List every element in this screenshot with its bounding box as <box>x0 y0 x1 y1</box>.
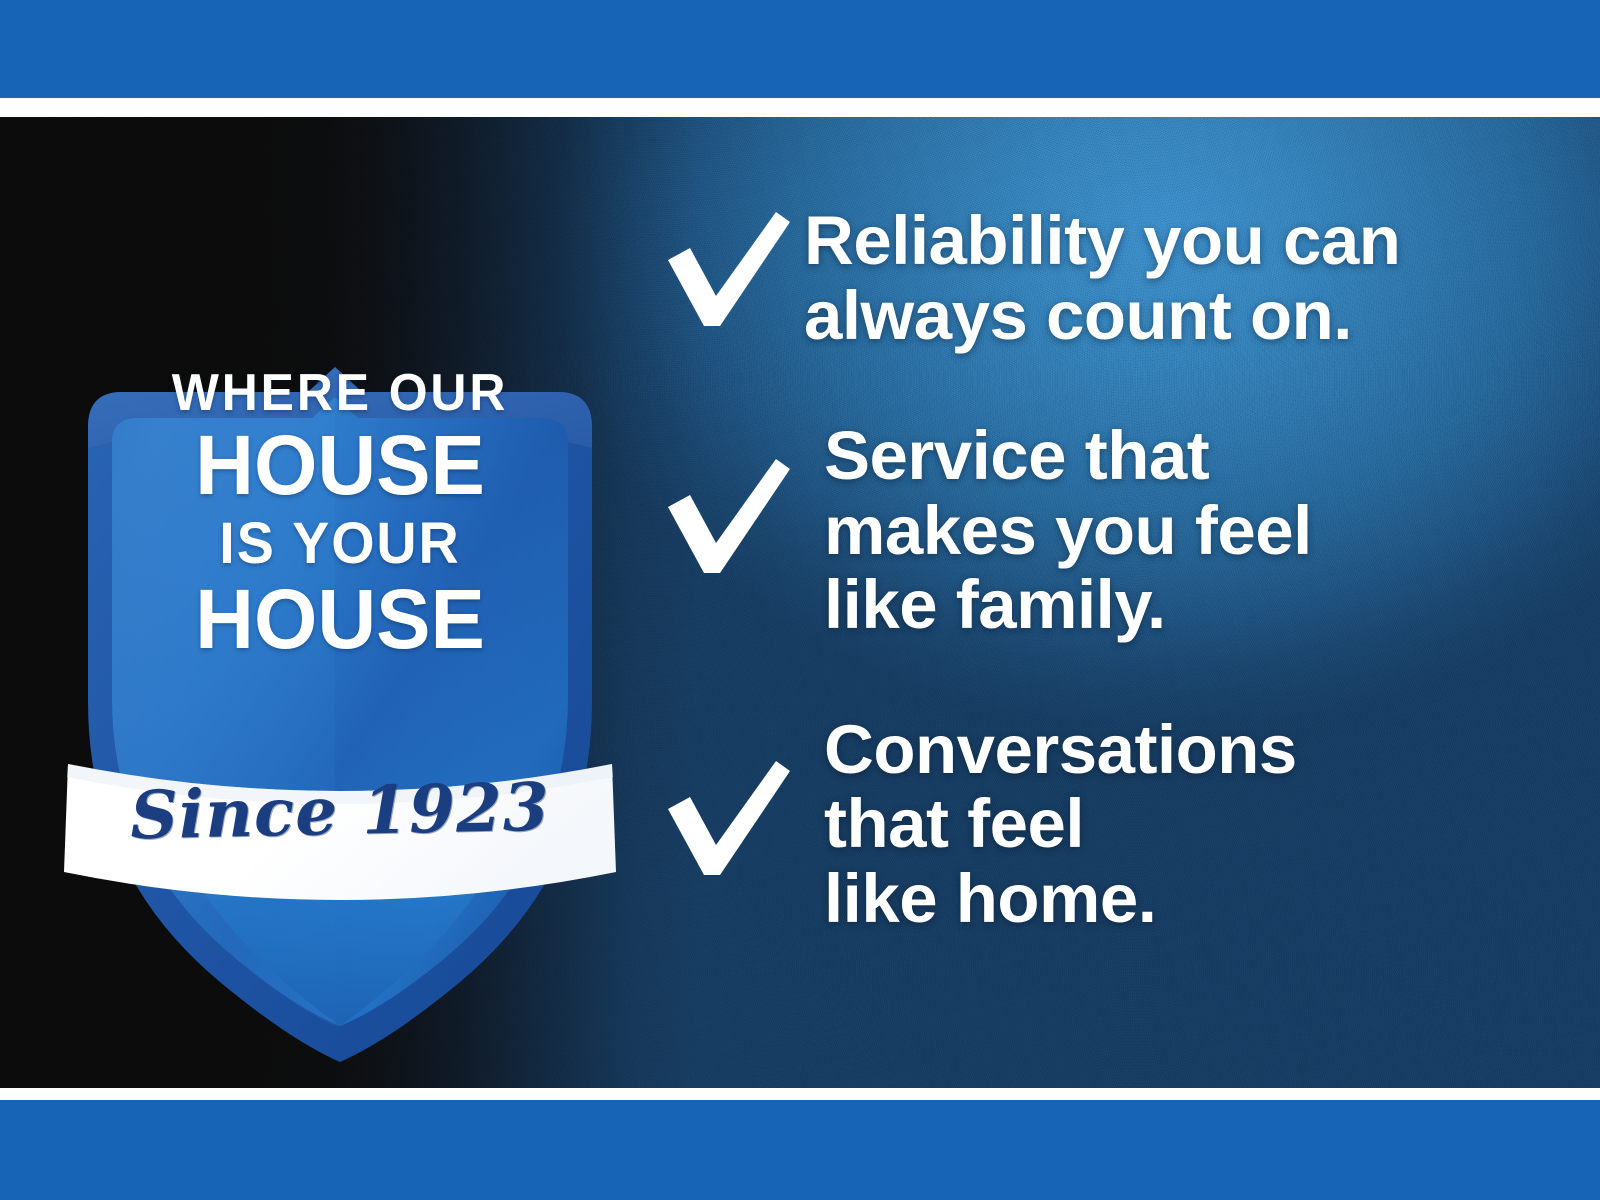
list-item-text: Service that makes you feel like family. <box>824 419 1312 643</box>
shield-badge: Where Our House Is Your House Since 1923 <box>60 272 620 1072</box>
list-item-line: that feel <box>824 787 1297 862</box>
badge-headline: Where Our House Is Your House <box>60 367 620 661</box>
list-item-text: Reliability you can always count on. <box>804 204 1400 353</box>
list-item-text: Conversations that feel like home. <box>824 713 1297 937</box>
benefits-list: Reliability you can always count on. Ser… <box>660 202 1560 1010</box>
badge-line-1: Where Our <box>71 367 609 419</box>
list-item-line: Service that <box>824 419 1312 494</box>
checkmark-icon <box>660 759 792 877</box>
list-item: Reliability you can always count on. <box>660 202 1560 353</box>
list-item-line: Conversations <box>824 713 1297 788</box>
list-item-line: Reliability you can <box>804 204 1400 279</box>
badge-ribbon-since-text: Since 1923 <box>59 766 621 856</box>
list-item-line: like home. <box>824 862 1297 937</box>
badge-line-4: House <box>68 577 611 661</box>
bottom-brand-bar <box>0 1100 1600 1200</box>
list-item-line: always count on. <box>804 279 1400 354</box>
checkmark-icon <box>660 210 792 328</box>
badge-line-2: House <box>68 423 611 507</box>
badge-line-3: Is Your <box>71 515 609 573</box>
list-item-line: makes you feel <box>824 494 1312 569</box>
main-panel: Where Our House Is Your House Since 1923… <box>0 117 1600 1088</box>
checkmark-icon <box>660 457 792 575</box>
promotional-graphic: Where Our House Is Your House Since 1923… <box>0 0 1600 1200</box>
top-brand-bar <box>0 0 1600 98</box>
list-item: Service that makes you feel like family. <box>660 427 1560 643</box>
list-item: Conversations that feel like home. <box>660 723 1560 937</box>
list-item-line: like family. <box>824 568 1312 643</box>
